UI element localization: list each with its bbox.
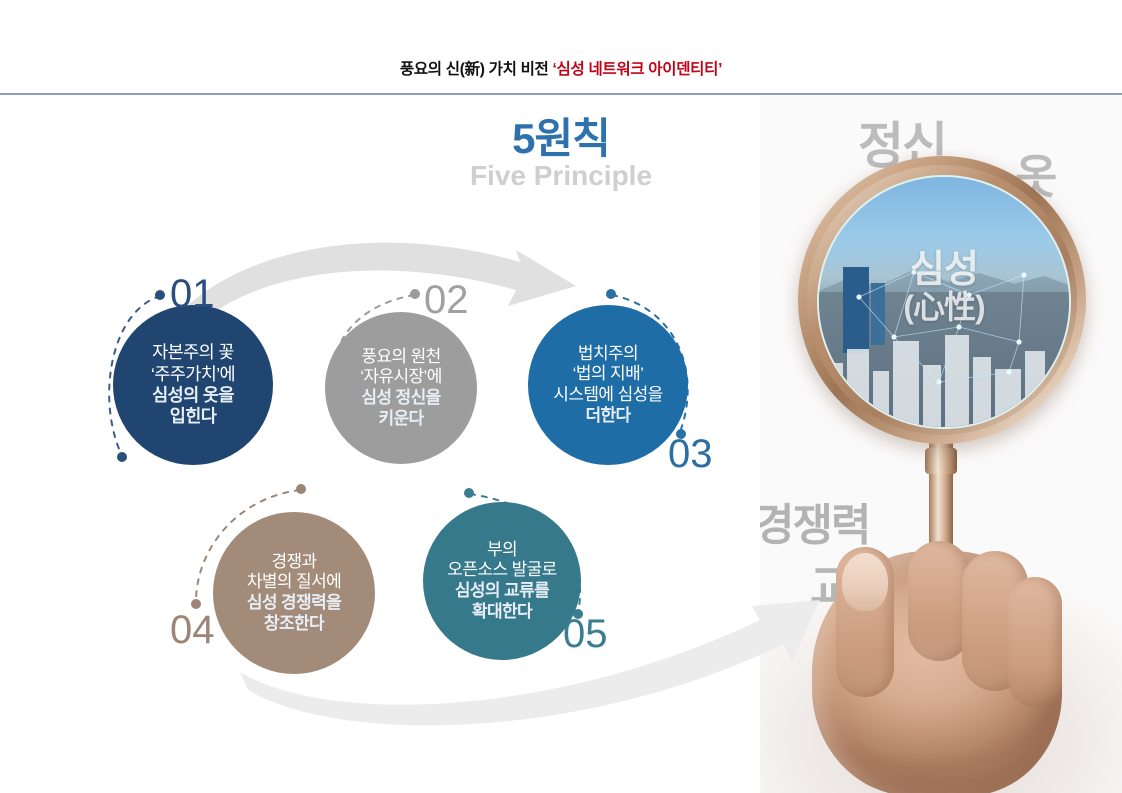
- header: 풍요의 신(新) 가치 비전 ‘심성 네트워크 아이덴티티’: [0, 0, 1122, 92]
- principle-01-text: 자본주의 꽃 ‘주주가치’에 심성의 옷을 입힌다: [151, 342, 235, 427]
- principle-number-02: 02: [424, 278, 469, 323]
- principle-number-05: 05: [563, 612, 608, 657]
- arc-dot-02-start: [410, 289, 420, 299]
- principle-circle-05[interactable]: 부의 오픈소스 발굴로 심성의 교류를 확대한다: [423, 502, 581, 660]
- principle-04-line-4: 창조한다: [264, 614, 324, 633]
- principle-04-line-2: 차별의 질서에: [247, 572, 341, 591]
- principle-number-03: 03: [668, 432, 713, 477]
- principle-03-text: 법치주의 ‘법의 지배’ 시스템에 심성을 더한다: [553, 344, 662, 427]
- header-title: 풍요의 신(新) 가치 비전 ‘심성 네트워크 아이덴티티’: [0, 57, 1122, 79]
- principle-01-line-2: ‘주주가치’에: [151, 364, 235, 384]
- principle-02-text: 풍요의 원천 ‘자유시장’에 심성 정신을 키운다: [360, 347, 442, 430]
- principle-05-line-1: 부의: [487, 540, 517, 559]
- arc-dot-03-start: [606, 289, 616, 299]
- magnifying-glass-icon: 심성 (心性): [798, 156, 1088, 456]
- principle-05-line-2: 오픈소스 발굴로: [447, 560, 556, 579]
- ring-finger: [1008, 577, 1062, 707]
- hand-holding-magnifier: [812, 551, 1062, 793]
- magnifier-lens: 심성 (心性): [817, 175, 1071, 429]
- principle-01-line-4: 입힌다: [170, 406, 217, 426]
- header-divider: [0, 93, 1122, 95]
- principle-number-04: 04: [170, 608, 215, 653]
- principle-03-line-4: 더한다: [585, 406, 630, 425]
- index-finger: [908, 541, 970, 661]
- principle-04-text: 경쟁과 차별의 질서에 심성 경쟁력을 창조한다: [247, 552, 341, 635]
- principle-05-text: 부의 오픈소스 발굴로 심성의 교류를 확대한다: [447, 540, 556, 623]
- principle-02-line-2: ‘자유시장’에: [360, 367, 442, 386]
- principle-03-line-1: 법치주의: [578, 344, 638, 363]
- principle-02-line-1: 풍요의 원천: [361, 347, 440, 366]
- principle-circle-01[interactable]: 자본주의 꽃 ‘주주가치’에 심성의 옷을 입힌다: [113, 305, 273, 465]
- magnifier-photo-panel: 정신 옷 더하다 경쟁력 교류: [760, 96, 1122, 793]
- principle-circle-02[interactable]: 풍요의 원천 ‘자유시장’에 심성 정신을 키운다: [325, 312, 477, 464]
- header-title-plain: 풍요의 신(新) 가치 비전: [400, 61, 553, 78]
- principle-number-01: 01: [170, 272, 215, 317]
- arc-dot-04-start: [296, 484, 306, 494]
- lens-label: 심성 (心性): [819, 251, 1069, 324]
- lens-label-line1: 심성: [819, 251, 1069, 291]
- header-title-accent: ‘심성 네트워크 아이덴티티’: [553, 61, 723, 78]
- watermark-gyeongjaengryeok: 경쟁력: [760, 489, 869, 553]
- arc-dot-01-start: [155, 290, 165, 300]
- principle-02-line-3: 심성 정신을: [361, 388, 440, 407]
- principle-03-line-3: 시스템에 심성을: [553, 385, 662, 404]
- principle-04-line-3: 심성 경쟁력을: [247, 593, 341, 612]
- principle-03-line-2: ‘법의 지배’: [573, 364, 644, 383]
- principle-04-line-1: 경쟁과: [271, 552, 316, 571]
- principle-05-line-3: 심성의 교류를: [455, 581, 549, 600]
- thumbnail: [842, 553, 888, 611]
- principle-01-line-3: 심성의 옷을: [152, 385, 234, 405]
- principle-circle-03[interactable]: 법치주의 ‘법의 지배’ 시스템에 심성을 더한다: [528, 305, 688, 465]
- magnifier-collar: [925, 448, 957, 474]
- principle-05-line-4: 확대한다: [472, 602, 532, 621]
- principle-circle-04[interactable]: 경쟁과 차별의 질서에 심성 경쟁력을 창조한다: [213, 512, 375, 674]
- principle-01-line-1: 자본주의 꽃: [152, 342, 234, 362]
- lens-label-line2: (心性): [819, 291, 1069, 325]
- arc-dot-01-end: [117, 452, 127, 462]
- principle-02-line-4: 키운다: [378, 409, 423, 428]
- slide-canvas: 풍요의 신(新) 가치 비전 ‘심성 네트워크 아이덴티티’ 5원칙 Five …: [0, 0, 1122, 793]
- arc-dot-05-start: [464, 488, 474, 498]
